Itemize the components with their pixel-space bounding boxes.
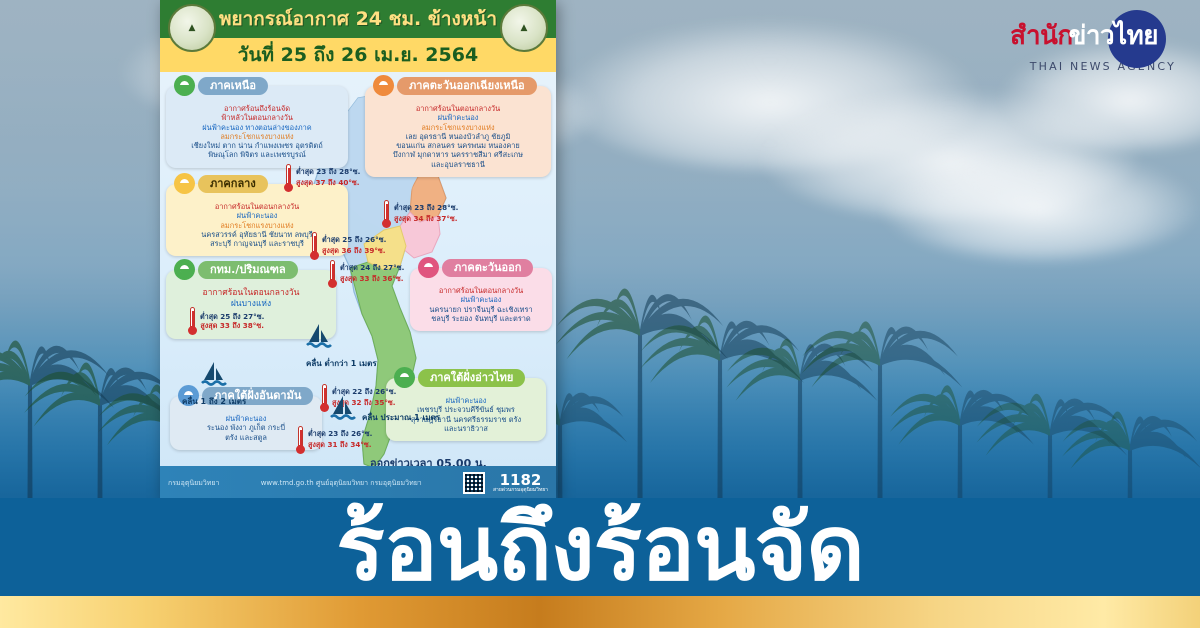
region-title-east: ภาคตะวันออก <box>442 259 533 277</box>
temperature-central: ต่ำสุด 25 ถึง 26°ซ. สูงสุด 36 ถึง 39°ซ. <box>310 232 386 260</box>
region-card-east[interactable]: ภาคตะวันออก อากาศร้อนในตอนกลางวัน ฝนฟ้าค… <box>410 268 552 331</box>
temperature-north: ต่ำสุด 23 ถึง 28°ซ. สูงสุด 37 ถึง 40°ซ. <box>284 164 360 192</box>
map-pin-icon-northeast <box>373 75 394 103</box>
region-line: อากาศร้อนในตอนกลางวัน <box>373 104 543 113</box>
region-line: เชียงใหม่ ตาก น่าน กำแพงเพชร อุตรดิตถ์ <box>174 141 340 150</box>
weather-forecast-poster: พยากรณ์อากาศ 24 ชม. ข้างหน้า วันที่ 25 ถ… <box>160 0 556 500</box>
wave-marker-andaman: คลื่น 1 ถึง 2 เมตร <box>182 360 246 408</box>
thermometer-icon <box>320 384 329 412</box>
region-title-central: ภาคกลาง <box>198 175 268 193</box>
temp-max: สูงสุด 34 ถึง 37°ซ. <box>394 214 458 225</box>
region-title-northeast: ภาคตะวันออกเฉียงเหนือ <box>397 77 537 95</box>
headline-text: ร้อนถึงร้อนจัด <box>0 498 1200 596</box>
seal-right-label: ▲ <box>521 24 528 33</box>
wave-label: คลื่น ต่ำกว่า 1 เมตร <box>306 357 377 370</box>
thai-news-agency-logo: สำนัก ข่าวไทย THAI NEWS AGENCY <box>994 6 1184 98</box>
wave-label: คลื่น 1 ถึง 2 เมตร <box>182 395 246 408</box>
temp-min: ต่ำสุด 25 ถึง 27°ซ. <box>200 312 264 321</box>
temperature-east: ต่ำสุด 24 ถึง 27°ซ. สูงสุด 33 ถึง 36°ซ. <box>328 260 404 288</box>
map-pin-icon-east <box>418 257 439 285</box>
thermometer-icon <box>328 260 337 288</box>
poster-body: ภาคเหนือ อากาศร้อนถึงร้อนจัด ฟ้าหลัวในตอ… <box>160 72 556 500</box>
poster-title: พยากรณ์อากาศ 24 ชม. ข้างหน้า <box>219 4 497 34</box>
poster-date-range: วันที่ 25 ถึง 26 เม.ย. 2564 <box>238 40 478 70</box>
temp-min: ต่ำสุด 23 ถึง 28°ซ. <box>296 167 360 178</box>
temperature-values: ต่ำสุด 23 ถึง 28°ซ. สูงสุด 34 ถึง 37°ซ. <box>394 203 458 225</box>
temp-min: ต่ำสุด 23 ถึง 28°ซ. <box>394 203 458 214</box>
seal-left-label: ▲ <box>189 24 196 33</box>
temperature-values: ต่ำสุด 23 ถึง 26°ซ. สูงสุด 31 ถึง 34°ซ. <box>308 429 372 451</box>
map-pin-icon-north <box>174 75 195 103</box>
poster-title-bar: พยากรณ์อากาศ 24 ชม. ข้างหน้า <box>160 0 556 38</box>
region-line: ฝนฟ้าคะนอง ทางตอนล่างของภาค <box>174 123 340 132</box>
region-line: และอุบลราชธานี <box>373 160 543 169</box>
region-line: ชลบุรี ระยอง จันทบุรี และตราด <box>418 314 544 323</box>
region-title-bangkok: กทม./ปริมณฑล <box>198 261 298 279</box>
region-line: อากาศร้อนในตอนกลางวัน <box>174 288 328 299</box>
temperature-values: ต่ำสุด 24 ถึง 27°ซ. สูงสุด 33 ถึง 36°ซ. <box>340 263 404 285</box>
region-line: ฝนฟ้าคะนอง <box>373 113 543 122</box>
map-pin-icon-central <box>174 173 195 201</box>
thermometer-icon <box>296 426 305 454</box>
temp-max: สูงสุด 33 ถึง 36°ซ. <box>340 274 404 285</box>
wave-label: คลื่น ประมาณ 1 เมตร <box>362 411 440 424</box>
region-title-north: ภาคเหนือ <box>198 77 268 95</box>
region-card-northeast[interactable]: ภาคตะวันออกเฉียงเหนือ อากาศร้อนในตอนกลาง… <box>365 86 551 177</box>
thermometer-icon <box>284 164 293 192</box>
poster-header: พยากรณ์อากาศ 24 ชม. ข้างหน้า วันที่ 25 ถ… <box>160 0 556 72</box>
temp-min: ต่ำสุด 23 ถึง 26°ซ. <box>308 429 372 440</box>
region-line: ตรัง และสตูล <box>178 433 314 442</box>
region-line: ฟ้าหลัวในตอนกลางวัน <box>174 113 340 122</box>
region-line: ลมกระโชกแรงบางแห่ง <box>174 221 340 230</box>
logo-wordmark: สำนัก ข่าวไทย <box>994 6 1184 64</box>
sailboat-icon <box>330 394 356 428</box>
region-line: ลมกระโชกแรงบางแห่ง <box>373 123 543 132</box>
wave-row <box>306 322 377 356</box>
thermometer-icon <box>188 307 197 335</box>
map-pin-icon-bangkok <box>174 259 195 287</box>
wave-marker-gulf-upper: คลื่น ต่ำกว่า 1 เมตร <box>306 322 377 370</box>
wave-row <box>182 360 246 394</box>
tmd-seal-left-icon: ▲ <box>168 4 216 52</box>
region-lines-bangkok: อากาศร้อนในตอนกลางวัน ฝนบางแห่ง <box>174 288 328 309</box>
temperature-andaman: ต่ำสุด 23 ถึง 26°ซ. สูงสุด 31 ถึง 34°ซ. <box>296 426 372 454</box>
sailboat-icon <box>306 322 332 356</box>
poster-date-bar: วันที่ 25 ถึง 26 เม.ย. 2564 <box>160 38 556 72</box>
temperature-values: ต่ำสุด 23 ถึง 28°ซ. สูงสุด 37 ถึง 40°ซ. <box>296 167 360 189</box>
region-line: อากาศร้อนถึงร้อนจัด <box>174 104 340 113</box>
temp-min: ต่ำสุด 25 ถึง 26°ซ. <box>322 235 386 246</box>
region-line: ฝนฟ้าคะนอง <box>174 211 340 220</box>
region-line: บึงกาฬ มุกดาหาร นครราชสีมา ศรีสะเกษ <box>373 150 543 159</box>
temperature-values: ต่ำสุด 25 ถึง 27°ซ. สูงสุด 33 ถึง 38°ซ. <box>200 312 264 330</box>
region-line: อากาศร้อนในตอนกลางวัน <box>174 202 340 211</box>
region-card-north[interactable]: ภาคเหนือ อากาศร้อนถึงร้อนจัด ฟ้าหลัวในตอ… <box>166 86 348 168</box>
wave-marker-gulf-lower: คลื่น ประมาณ 1 เมตร <box>330 394 440 428</box>
logo-text-white: ข่าวไทย <box>1069 15 1158 56</box>
gold-accent-bar <box>0 596 1200 628</box>
region-line: ลมกระโชกแรงบางแห่ง <box>174 132 340 141</box>
region-line: เลย อุดรธานี หนองบัวลำภู ชัยภูมิ <box>373 132 543 141</box>
logo-text-red: สำนัก <box>1010 15 1072 56</box>
temp-max: สูงสุด 37 ถึง 40°ซ. <box>296 178 360 189</box>
tmd-seal-right-icon: ▲ <box>500 4 548 52</box>
temperature-bangkok: ต่ำสุด 25 ถึง 27°ซ. สูงสุด 33 ถึง 38°ซ. <box>188 307 264 335</box>
sailboat-icon <box>201 360 227 394</box>
temp-max: สูงสุด 36 ถึง 39°ซ. <box>322 246 386 257</box>
region-lines-north: อากาศร้อนถึงร้อนจัด ฟ้าหลัวในตอนกลางวัน … <box>174 104 340 160</box>
region-title-gulf: ภาคใต้ฝั่งอ่าวไทย <box>418 369 525 387</box>
thermometer-icon <box>310 232 319 260</box>
region-line: ขอนแก่น สกลนคร นครพนม หนองคาย <box>373 141 543 150</box>
region-line: พิษณุโลก พิจิตร และเพชรบูรณ์ <box>174 150 340 159</box>
region-lines-northeast: อากาศร้อนในตอนกลางวัน ฝนฟ้าคะนอง ลมกระโช… <box>373 104 543 169</box>
temperature-northeast: ต่ำสุด 23 ถึง 28°ซ. สูงสุด 34 ถึง 37°ซ. <box>382 200 458 228</box>
map-pin-icon-gulf <box>394 367 415 395</box>
temp-min: ต่ำสุด 24 ถึง 27°ซ. <box>340 263 404 274</box>
temperature-values: ต่ำสุด 25 ถึง 26°ซ. สูงสุด 36 ถึง 39°ซ. <box>322 235 386 257</box>
region-line: นครนายก ปราจีนบุรี ฉะเชิงเทรา <box>418 305 544 314</box>
footer-left-text: กรมอุตุนิยมวิทยา <box>168 478 219 489</box>
temp-max: สูงสุด 31 ถึง 34°ซ. <box>308 440 372 451</box>
temp-max: สูงสุด 33 ถึง 38°ซ. <box>200 321 264 330</box>
thermometer-icon <box>382 200 391 228</box>
wave-row: คลื่น ประมาณ 1 เมตร <box>330 394 440 428</box>
